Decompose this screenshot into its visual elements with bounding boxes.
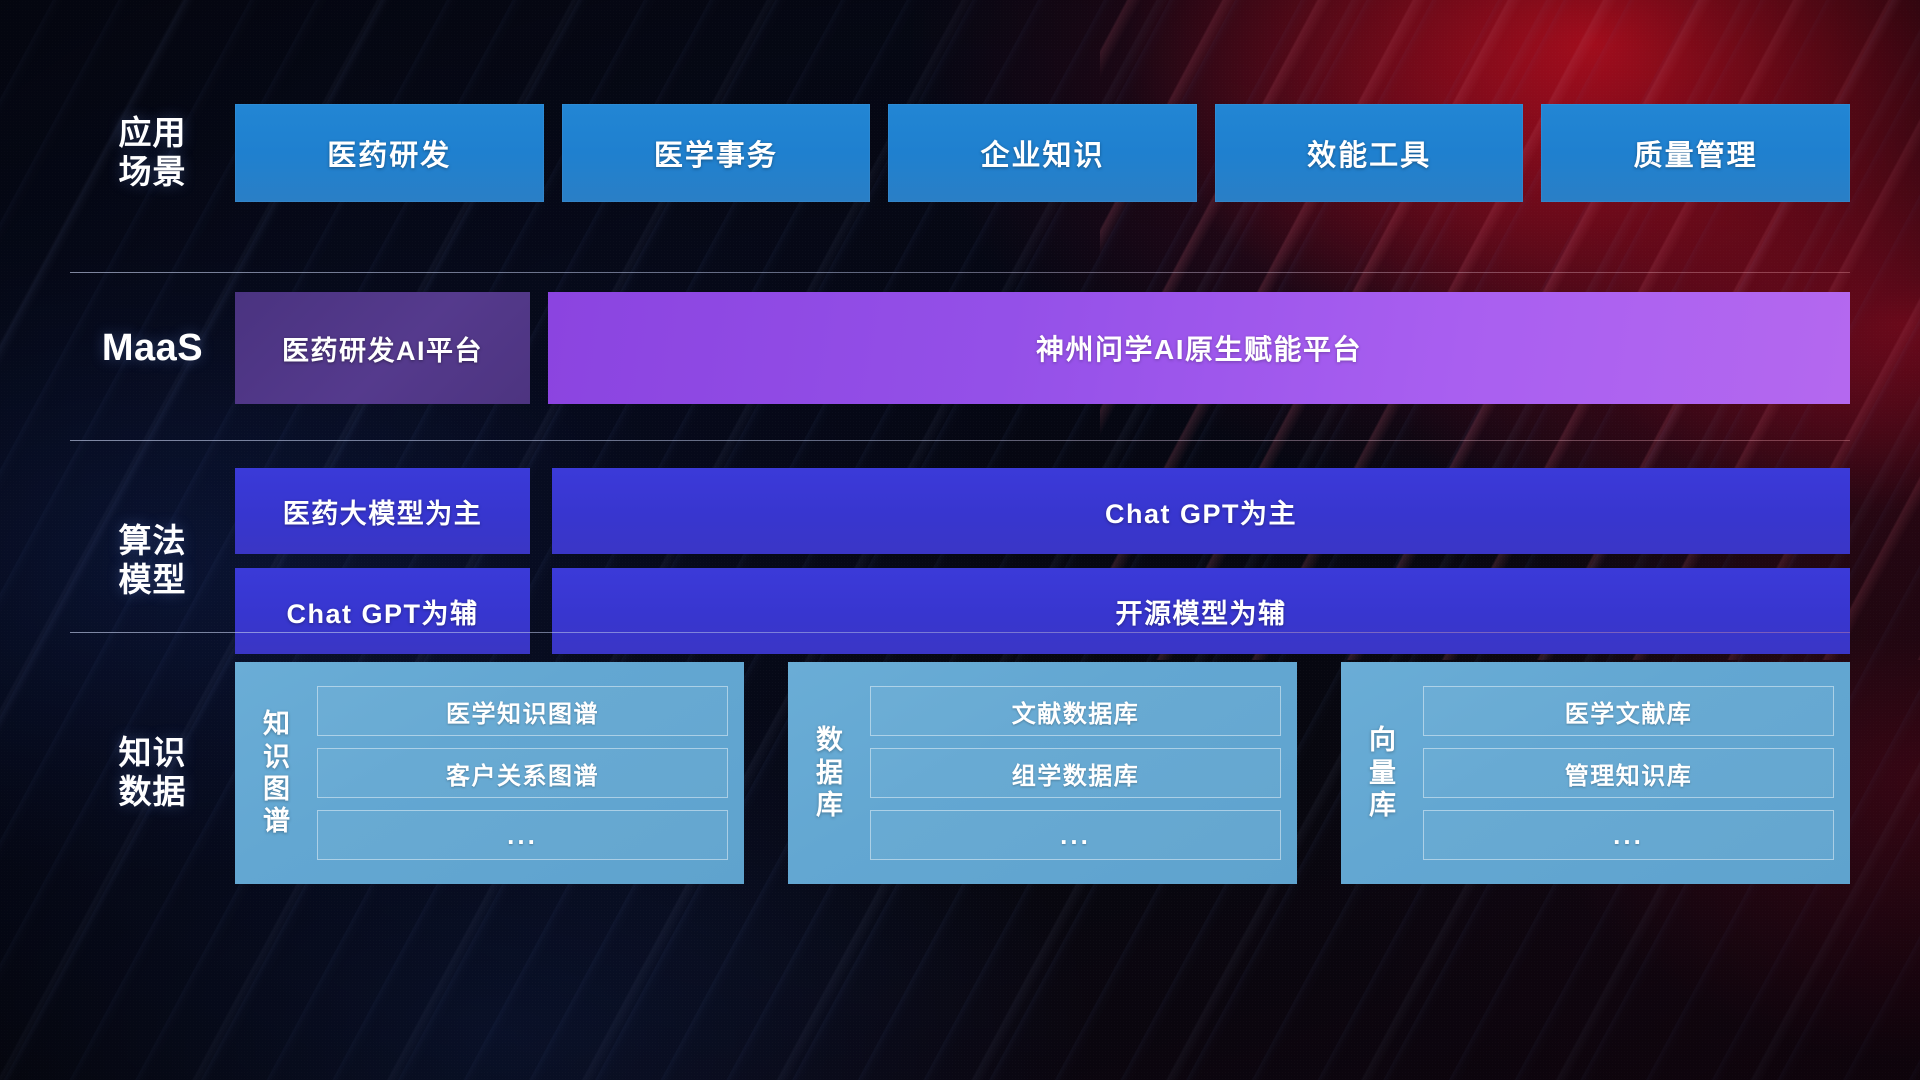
row-application-scenario: 应用 场景 医药研发 医学事务 企业知识 效能工具 质量管理 — [70, 104, 1850, 202]
application-box-0[interactable]: 医药研发 — [235, 104, 544, 202]
application-box-list: 医药研发 医学事务 企业知识 效能工具 质量管理 — [235, 104, 1850, 202]
algorithm-box-chatgpt-secondary[interactable]: Chat GPT为辅 — [235, 568, 530, 654]
knowledge-group-database-title-char-0: 数 — [816, 724, 844, 756]
knowledge-item-literature-db[interactable]: 文献数据库 — [870, 686, 1281, 736]
knowledge-group-graph-title-char-3: 谱 — [263, 805, 291, 837]
row-label-knowledge-line1: 知识 — [70, 734, 235, 773]
algorithm-box-chatgpt-primary[interactable]: Chat GPT为主 — [552, 468, 1850, 554]
knowledge-group-graph-items: 医学知识图谱 客户关系图谱 ... — [317, 676, 728, 870]
row-knowledge-data: 知识 数据 知 识 图 谱 医学知识图谱 客户关系图谱 ... — [70, 662, 1850, 884]
knowledge-item-database-more[interactable]: ... — [870, 810, 1281, 860]
application-box-4[interactable]: 质量管理 — [1541, 104, 1850, 202]
algorithm-line-secondary: Chat GPT为辅 开源模型为辅 — [235, 568, 1850, 654]
divider-application-maas — [70, 272, 1850, 273]
application-box-3[interactable]: 效能工具 — [1215, 104, 1524, 202]
application-box-2[interactable]: 企业知识 — [888, 104, 1197, 202]
knowledge-group-database-title-char-1: 据 — [816, 757, 844, 789]
knowledge-group-vector-title-char-0: 向 — [1369, 724, 1397, 756]
knowledge-item-vector-more[interactable]: ... — [1423, 810, 1834, 860]
algorithm-box-opensource-secondary[interactable]: 开源模型为辅 — [552, 568, 1850, 654]
row-label-knowledge: 知识 数据 — [70, 734, 235, 812]
knowledge-item-medical-literature[interactable]: 医学文献库 — [1423, 686, 1834, 736]
knowledge-group-graph[interactable]: 知 识 图 谱 医学知识图谱 客户关系图谱 ... — [235, 662, 744, 884]
knowledge-item-medical-graph[interactable]: 医学知识图谱 — [317, 686, 728, 736]
maas-box-list: 医药研发AI平台 神州问学AI原生赋能平台 — [235, 292, 1850, 404]
row-label-knowledge-line2: 数据 — [70, 773, 235, 812]
knowledge-group-list: 知 识 图 谱 医学知识图谱 客户关系图谱 ... 数 据 — [235, 662, 1850, 884]
knowledge-group-graph-title: 知 识 图 谱 — [247, 676, 307, 870]
row-label-application-line2: 场景 — [70, 153, 235, 192]
knowledge-group-vector-title-char-2: 库 — [1369, 789, 1397, 821]
knowledge-item-omics-db[interactable]: 组学数据库 — [870, 748, 1281, 798]
application-box-1[interactable]: 医学事务 — [562, 104, 871, 202]
algorithm-line-primary: 医药大模型为主 Chat GPT为主 — [235, 468, 1850, 554]
divider-maas-algorithm — [70, 440, 1850, 441]
knowledge-group-graph-title-char-2: 图 — [263, 773, 291, 805]
knowledge-group-vector[interactable]: 向 量 库 医学文献库 管理知识库 ... — [1341, 662, 1850, 884]
knowledge-group-database-title-char-2: 库 — [816, 789, 844, 821]
row-label-application: 应用 场景 — [70, 114, 235, 192]
row-label-application-line1: 应用 — [70, 114, 235, 153]
knowledge-group-graph-title-char-0: 知 — [263, 708, 291, 740]
row-label-algorithm-line1: 算法 — [70, 522, 235, 561]
row-label-maas: MaaS — [70, 326, 235, 371]
knowledge-item-graph-more[interactable]: ... — [317, 810, 728, 860]
knowledge-item-customer-graph[interactable]: 客户关系图谱 — [317, 748, 728, 798]
algorithm-box-grid: 医药大模型为主 Chat GPT为主 Chat GPT为辅 开源模型为辅 — [235, 468, 1850, 654]
knowledge-group-vector-items: 医学文献库 管理知识库 ... — [1423, 676, 1834, 870]
row-label-algorithm-line2: 模型 — [70, 561, 235, 600]
maas-box-drug-ai-platform[interactable]: 医药研发AI平台 — [235, 292, 530, 404]
knowledge-group-vector-title: 向 量 库 — [1353, 676, 1413, 870]
knowledge-item-management-kb[interactable]: 管理知识库 — [1423, 748, 1834, 798]
knowledge-group-graph-title-char-1: 识 — [263, 741, 291, 773]
knowledge-group-database[interactable]: 数 据 库 文献数据库 组学数据库 ... — [788, 662, 1297, 884]
knowledge-group-database-title: 数 据 库 — [800, 676, 860, 870]
knowledge-group-database-items: 文献数据库 组学数据库 ... — [870, 676, 1281, 870]
knowledge-group-vector-title-char-1: 量 — [1369, 757, 1397, 789]
architecture-diagram: 应用 场景 医药研发 医学事务 企业知识 效能工具 质量管理 MaaS 医药研发… — [0, 0, 1920, 1080]
row-label-algorithm: 算法 模型 — [70, 522, 235, 600]
divider-algorithm-knowledge — [70, 632, 1850, 633]
row-maas: MaaS 医药研发AI平台 神州问学AI原生赋能平台 — [70, 292, 1850, 404]
algorithm-box-drug-llm-primary[interactable]: 医药大模型为主 — [235, 468, 530, 554]
slide-canvas: 应用 场景 医药研发 医学事务 企业知识 效能工具 质量管理 MaaS 医药研发… — [0, 0, 1920, 1080]
row-algorithm-model: 算法 模型 医药大模型为主 Chat GPT为主 Chat GPT为辅 开源模型… — [70, 468, 1850, 654]
maas-box-native-enable-platform[interactable]: 神州问学AI原生赋能平台 — [548, 292, 1850, 404]
